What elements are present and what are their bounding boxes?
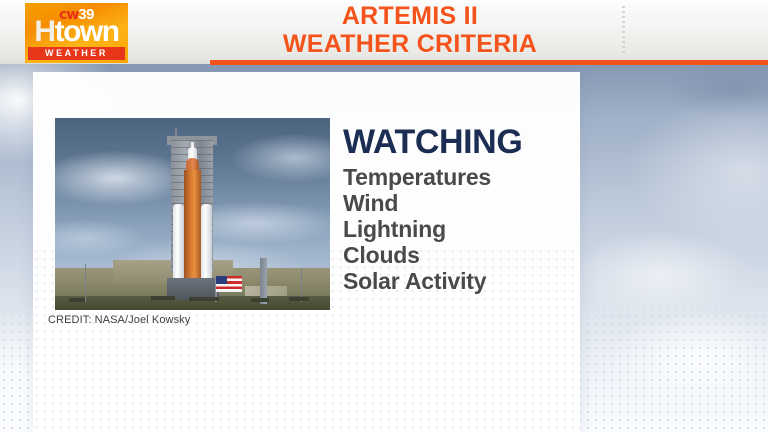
header-dotted-divider <box>622 6 625 54</box>
photo-core-stage <box>184 170 201 282</box>
list-item: Temperatures <box>343 164 578 190</box>
logo-brand-first: H <box>34 15 54 48</box>
header-accent-rule <box>210 60 768 65</box>
page-title-line1: ARTEMIS II <box>200 2 620 30</box>
broadcast-graphic-stage: CREDIT: NASA/Joel Kowsky WATCHING Temper… <box>0 0 768 432</box>
criteria-list: Temperatures Wind Lightning Clouds Solar… <box>343 164 578 294</box>
logo-brand-rest: town <box>55 15 119 48</box>
photo-vehicle <box>151 296 175 300</box>
watching-heading: WATCHING <box>343 124 578 160</box>
list-item: Clouds <box>343 242 578 268</box>
photo-booster-right <box>201 204 212 282</box>
photo-pole-left <box>85 264 86 302</box>
logo-tagline: WEATHER <box>28 47 125 60</box>
rocket-photo <box>55 118 330 310</box>
photo-vehicle <box>251 298 269 302</box>
station-logo: cw39 Htown WEATHER <box>25 3 128 63</box>
list-item: Solar Activity <box>343 268 578 294</box>
page-title: ARTEMIS II WEATHER CRITERIA <box>200 2 620 60</box>
list-item: Lightning <box>343 216 578 242</box>
logo-brand-line: Htown <box>25 17 128 47</box>
page-title-line2: WEATHER CRITERIA <box>200 30 620 58</box>
photo-booster-left <box>173 204 184 282</box>
criteria-text-block: WATCHING Temperatures Wind Lightning Clo… <box>343 124 578 294</box>
photo-vehicle <box>69 298 85 302</box>
list-item: Wind <box>343 190 578 216</box>
header-bar: cw39 Htown WEATHER ARTEMIS II WEATHER CR… <box>0 0 768 64</box>
photo-flag-canton <box>216 276 227 284</box>
photo-credit: CREDIT: NASA/Joel Kowsky <box>48 314 190 326</box>
photo-vehicle <box>289 297 309 301</box>
photo-vehicle <box>189 297 219 301</box>
